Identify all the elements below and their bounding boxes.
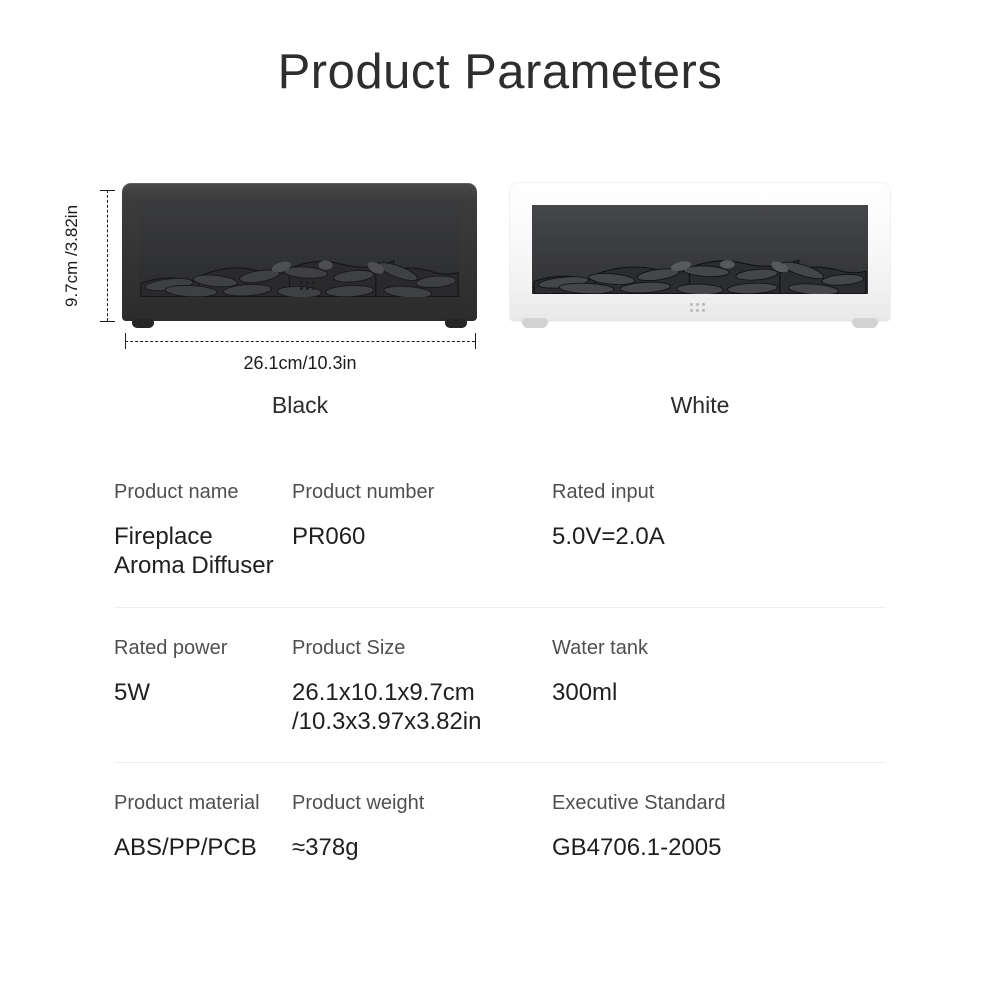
product-showcase: 9.7cm /3.82in 26.1cm/10.3in [0, 0, 1000, 430]
spec-cell: Product material ABS/PP/PCB [0, 791, 292, 862]
vent-holes-black [300, 281, 315, 290]
width-dimension-cap-right [475, 333, 476, 349]
log-stack-icon [532, 242, 868, 294]
spec-value: ≈378g [292, 833, 552, 862]
spec-cell: Water tank 300ml [552, 636, 892, 737]
spec-cell: Product name Fireplace Aroma Diffuser [0, 480, 292, 581]
spec-value: 5W [114, 678, 292, 707]
fireplace-cavity-black [139, 201, 460, 297]
spec-value: ABS/PP/PCB [114, 833, 292, 862]
spec-value: 300ml [552, 678, 892, 707]
foot-right [445, 319, 467, 328]
foot-right [852, 318, 878, 328]
spec-label: Product Size [292, 636, 552, 660]
spec-cell: Rated input 5.0V=2.0A [552, 480, 892, 581]
variant-caption-black: Black [200, 392, 400, 419]
spec-cell: Product Size 26.1x10.1x9.7cm /10.3x3.97x… [292, 636, 552, 737]
spec-table: Product name Fireplace Aroma Diffuser Pr… [0, 480, 1000, 862]
width-dimension-line [125, 341, 475, 342]
spec-cell: Product number PR060 [292, 480, 552, 581]
foot-left [132, 319, 154, 328]
spec-row: Product name Fireplace Aroma Diffuser Pr… [0, 480, 1000, 607]
width-dimension-label: 26.1cm/10.3in [125, 353, 475, 374]
variant-caption-white: White [600, 392, 800, 419]
spec-row: Rated power 5W Product Size 26.1x10.1x9.… [0, 608, 1000, 763]
spec-value: Fireplace Aroma Diffuser [114, 522, 292, 581]
height-dimension-cap-bottom [100, 321, 115, 322]
spec-cell: Executive Standard GB4706.1-2005 [552, 791, 892, 862]
spec-row: Product material ABS/PP/PCB Product weig… [0, 763, 1000, 862]
product-image-white [510, 183, 890, 321]
foot-left [522, 318, 548, 328]
spec-cell: Rated power 5W [0, 636, 292, 737]
spec-label: Product weight [292, 791, 552, 815]
spec-value: 26.1x10.1x9.7cm /10.3x3.97x3.82in [292, 678, 552, 737]
height-dimension-label: 9.7cm /3.82in [62, 190, 84, 322]
spec-cell: Product weight ≈378g [292, 791, 552, 862]
spec-value: GB4706.1-2005 [552, 833, 892, 862]
spec-label: Rated power [114, 636, 292, 660]
height-dimension-line [107, 190, 108, 321]
spec-label: Product number [292, 480, 552, 504]
spec-label: Executive Standard [552, 791, 892, 815]
fireplace-cavity-white [532, 205, 868, 294]
spec-label: Product material [114, 791, 292, 815]
spec-value: 5.0V=2.0A [552, 522, 892, 551]
product-image-black [122, 183, 477, 321]
spec-label: Product name [114, 480, 292, 504]
spec-label: Water tank [552, 636, 892, 660]
spec-value: PR060 [292, 522, 552, 551]
vent-holes-white [690, 303, 705, 312]
spec-label: Rated input [552, 480, 892, 504]
